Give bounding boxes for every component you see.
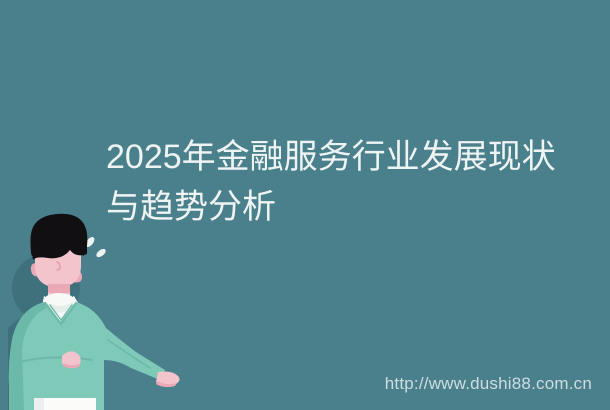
slide-title: 2025年金融服务行业发展现状 与趋势分析 (106, 132, 558, 232)
person-pointing-illustration (0, 210, 200, 410)
right-hand (156, 372, 180, 388)
jacket (9, 302, 165, 410)
title-line-1: 2025年金融服务行业发展现状 (106, 132, 558, 182)
banner-slide: 2025年金融服务行业发展现状 与趋势分析 http://www.dushi88… (0, 0, 610, 410)
watermark-url: http://www.dushi88.com.cn (385, 374, 592, 394)
pants (34, 398, 96, 410)
title-line-2: 与趋势分析 (106, 182, 558, 232)
left-hand (62, 351, 81, 368)
